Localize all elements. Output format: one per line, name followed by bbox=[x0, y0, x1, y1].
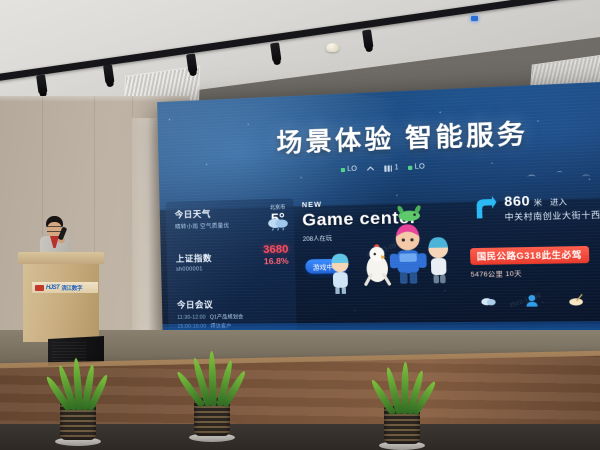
screenshot-root: 场景体验 智能服务 LO 1 LO 今日天气 晴转小雨 空气质量 bbox=[0, 0, 600, 450]
game-center-card[interactable]: NEW Game center 208人在玩 游戏中心 bbox=[302, 197, 488, 339]
nav-distance: 860 bbox=[504, 193, 530, 210]
meeting-subject: Q1产品规划会 bbox=[210, 314, 244, 320]
signal-right-label: LO bbox=[415, 163, 425, 171]
stock-readout: 3680 16.8% bbox=[263, 243, 289, 266]
weather-app-icon[interactable] bbox=[480, 294, 497, 307]
game-character-dragon bbox=[395, 205, 424, 224]
cloud-rain-icon bbox=[267, 217, 290, 231]
podium-body: HJST 滨江数字 bbox=[23, 264, 99, 342]
podium-logo: HJST 滨江数字 bbox=[32, 282, 98, 293]
potted-plant bbox=[372, 352, 432, 450]
logo-chinese-text: 滨江数字 bbox=[61, 284, 82, 292]
contacts-app-icon[interactable] bbox=[523, 294, 540, 307]
logo-text: HJST bbox=[46, 285, 59, 291]
meeting-row: 11:30-12:00Q1产品规划会 bbox=[177, 312, 287, 320]
cove-light bbox=[0, 0, 215, 19]
promo-card[interactable]: 国民公路G318此生必驾 5476公里 10天 bbox=[470, 243, 600, 279]
food-app-icon[interactable] bbox=[567, 293, 584, 306]
battery-label: 1 bbox=[394, 164, 398, 171]
promo-headline: 国民公路G318此生必驾 bbox=[470, 246, 589, 265]
track-indicator-led bbox=[471, 16, 478, 21]
podium: HJST 滨江数字 bbox=[18, 236, 104, 342]
podium-top bbox=[18, 252, 104, 264]
led-video-wall: 场景体验 智能服务 LO 1 LO 今日天气 晴转小雨 空气质量 bbox=[157, 80, 600, 340]
stock-value: 3680 bbox=[263, 243, 289, 256]
signal-left-label: LO bbox=[347, 165, 357, 173]
turn-right-arrow-icon bbox=[473, 195, 498, 221]
promo-sub: 5476公里 10天 bbox=[470, 266, 600, 279]
nav-road-name: 中关村南创业大街十西 bbox=[504, 209, 600, 223]
smoke-detector-icon bbox=[326, 43, 339, 52]
birds-decoration bbox=[522, 165, 600, 183]
game-character-mage bbox=[326, 252, 354, 294]
signal-left-icon: LO bbox=[341, 165, 357, 173]
battery-icon: 1 bbox=[385, 164, 399, 172]
logo-mark-icon bbox=[35, 285, 44, 291]
wifi-icon bbox=[367, 165, 376, 171]
app-icon-row[interactable] bbox=[480, 293, 585, 307]
game-character-archer bbox=[422, 236, 456, 285]
navigation-card: 860米进入 中关村南创业大街十西 bbox=[473, 184, 600, 248]
stock-change: 16.8% bbox=[263, 256, 289, 267]
nav-unit: 米 bbox=[533, 198, 542, 208]
potted-plant bbox=[182, 344, 242, 442]
nav-action: 进入 bbox=[550, 197, 567, 207]
info-card-left: 今日天气 晴转小雨 空气质量优 北京市 5° 上证指数 sh000001 368… bbox=[165, 198, 296, 340]
meetings-label: 今日会议 bbox=[177, 298, 287, 311]
meeting-time: 11:30-12:00 bbox=[177, 314, 206, 320]
signal-right-icon: LO bbox=[408, 163, 425, 171]
potted-plant bbox=[48, 348, 108, 446]
